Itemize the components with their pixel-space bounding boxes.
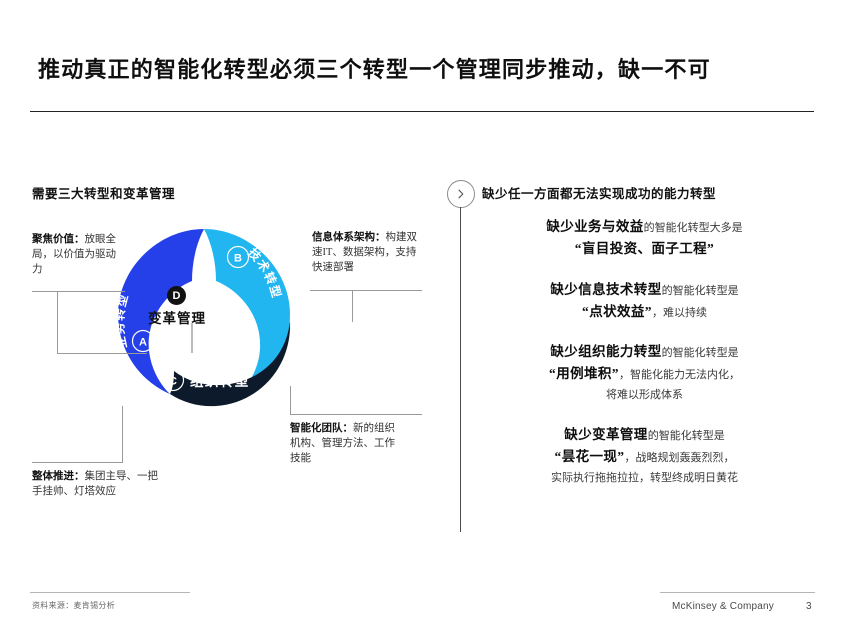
page-title: 推动真正的智能化转型必须三个转型一个管理同步推动，缺一不可 xyxy=(38,52,808,84)
risk-item-change-management-tail: ，战略规划轰轰烈烈， xyxy=(624,452,734,464)
leader-line-top-left-v xyxy=(57,291,58,354)
svg-text:C: C xyxy=(169,375,177,387)
leader-line-top-left-h2 xyxy=(57,353,147,354)
risk-item-organisation-key: 缺少组织能力转型 xyxy=(550,344,661,359)
leader-line-bottom-right-v xyxy=(290,386,291,415)
right-panel-header: 缺少任一方面都无法实现成功的能力转型 xyxy=(482,183,716,202)
right-panel-items: 缺少业务与效益的智能化转型大多是 “盲目投资、面子工程” 缺少信息技术转型的智能… xyxy=(472,216,817,507)
risk-item-business-mid: 的智能化转型大多是 xyxy=(644,222,743,234)
risk-item-change-management-quote: “昙花一现” xyxy=(555,449,625,464)
callout-intelligent-team-title: 智能化团队： xyxy=(290,423,353,434)
leader-line-top-left-h xyxy=(32,291,125,292)
risk-item-technology-quote: “点状效益” xyxy=(582,304,652,319)
callout-overall-rollout-title: 整体推进： xyxy=(32,471,85,482)
panel-divider xyxy=(460,207,461,532)
risk-item-technology-mid: 的智能化转型是 xyxy=(662,285,739,297)
risk-item-technology-key: 缺少信息技术转型 xyxy=(550,282,661,297)
risk-item-business: 缺少业务与效益的智能化转型大多是 “盲目投资、面子工程” xyxy=(472,216,817,260)
footer-divider-right xyxy=(660,592,815,593)
risk-item-change-management-tail2: 实际执行拖拖拉拉，转型终成明日黄花 xyxy=(551,472,738,484)
callout-overall-rollout: 整体推进：集团主导、一把手挂帅、灯塔效应 xyxy=(32,470,168,500)
risk-item-organisation: 缺少组织能力转型的智能化转型是 “用例堆积”，智能化能力无法内化， 将难以形成体… xyxy=(472,341,817,405)
leader-line-bottom-left-h xyxy=(32,462,123,463)
chevron-right-icon xyxy=(447,180,475,208)
risk-item-technology: 缺少信息技术转型的智能化转型是 “点状效益”，难以持续 xyxy=(472,279,817,323)
risk-item-organisation-tail: ，智能化能力无法内化， xyxy=(619,369,740,381)
callout-information-architecture: 信息体系架构：构建双速IT、数据架构，支持快速部署 xyxy=(312,231,422,276)
callout-focus-value-title: 聚焦价值： xyxy=(32,234,85,245)
page-number: 3 xyxy=(806,601,812,612)
svg-text:B: B xyxy=(234,252,242,264)
leader-line-bottom-right-h xyxy=(290,414,422,415)
callout-focus-value: 聚焦价值：放眼全局，以价值为驱动力 xyxy=(32,233,124,278)
diagram-center-label: 变革管理 xyxy=(133,307,221,327)
diagram-badge-d: D xyxy=(167,286,186,305)
title-divider xyxy=(30,111,814,112)
risk-item-change-management: 缺少变革管理的智能化转型是 “昙花一现”，战略规划轰轰烈烈， 实际执行拖拖拉拉，… xyxy=(472,424,817,488)
leader-line-bottom-left-v xyxy=(122,406,123,462)
callout-information-architecture-title: 信息体系架构： xyxy=(312,232,386,243)
svg-text:A: A xyxy=(139,336,147,348)
risk-item-change-management-mid: 的智能化转型是 xyxy=(648,430,725,442)
callout-intelligent-team: 智能化团队：新的组织机构、管理方法、工作技能 xyxy=(290,422,400,467)
brand-label: McKinsey & Company xyxy=(672,601,774,612)
diagram-segment-c-label: 组织转型 xyxy=(190,373,250,389)
footer-divider-left xyxy=(30,592,190,593)
risk-item-business-quote: “盲目投资、面子工程” xyxy=(575,241,714,256)
risk-item-organisation-tail2: 将难以形成体系 xyxy=(606,389,683,401)
risk-item-organisation-quote: “用例堆积” xyxy=(549,366,619,381)
risk-item-organisation-mid: 的智能化转型是 xyxy=(662,347,739,359)
leader-line-top-right-v xyxy=(352,290,353,322)
risk-item-change-management-key: 缺少变革管理 xyxy=(564,427,647,442)
source-note: 资料来源：麦肯锡分析 xyxy=(32,600,115,611)
risk-item-technology-tail: ，难以持续 xyxy=(652,307,707,319)
leader-line-top-right-h xyxy=(310,290,422,291)
left-panel-header: 需要三大转型和变革管理 xyxy=(32,183,175,202)
slide-canvas: 推动真正的智能化转型必须三个转型一个管理同步推动，缺一不可 需要三大转型和变革管… xyxy=(0,0,845,634)
risk-item-business-key: 缺少业务与效益 xyxy=(546,219,643,234)
